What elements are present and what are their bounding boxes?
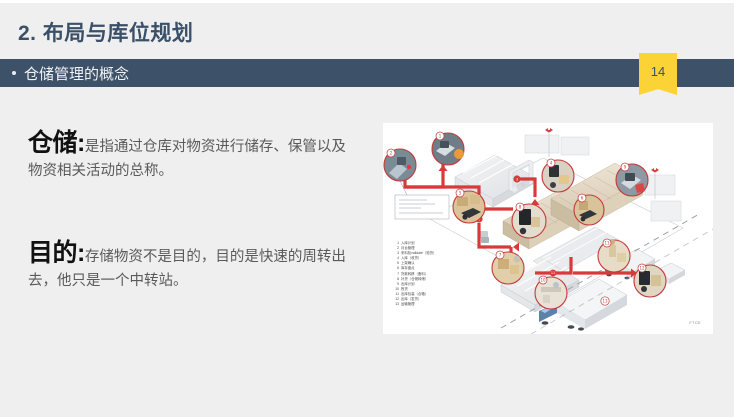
page-number-label: 14 <box>651 64 665 79</box>
svg-text:11: 11 <box>604 240 610 245</box>
svg-text:2: 2 <box>390 150 393 155</box>
legend-item-label: 运输管理 <box>401 302 415 306</box>
diagram-credit-label: FTCE <box>689 320 701 325</box>
svg-text:3: 3 <box>516 177 518 181</box>
legend-item: 13运输管理 <box>392 302 436 307</box>
legend-item-label: 上架确认 <box>401 261 415 265</box>
subtitle-bar: 仓储管理的概念 <box>0 59 734 87</box>
legend-item-label: 来料检validate（验货） <box>401 251 436 255</box>
legend-item-label: 入库（收货） <box>401 256 421 260</box>
svg-text:1: 1 <box>439 133 442 138</box>
legend-item-label: 出库包装（合箱） <box>401 292 428 296</box>
paragraph-lead: 目的: <box>28 239 85 267</box>
legend-item-label: 补货（仓储转储） <box>401 277 428 281</box>
legend-item-label: 出库计划 <box>401 282 415 286</box>
legend-item-label: 入库计划 <box>401 241 415 245</box>
svg-text:9: 9 <box>624 164 627 169</box>
svg-text:7: 7 <box>499 252 502 257</box>
legend-item-label: 出库（发货） <box>401 297 421 301</box>
page-title: 2. 布局与库位规划 <box>18 17 193 47</box>
svg-text:6: 6 <box>581 195 584 200</box>
bullet-icon <box>12 71 16 75</box>
legend-item-label: 货款转移（备料） <box>401 272 428 276</box>
svg-text:8: 8 <box>519 204 522 209</box>
legend-item-label: 月台管理 <box>401 246 415 250</box>
svg-text:4: 4 <box>550 160 553 165</box>
subtitle-label: 仓储管理的概念 <box>24 63 129 84</box>
svg-text:10: 10 <box>540 277 546 282</box>
svg-text:12: 12 <box>639 265 645 270</box>
svg-text:5: 5 <box>459 190 462 195</box>
text-column: 仓储:是指通过仓库对物资进行储存、保管以及物资相关活动的总称。 目的:存储物资不… <box>0 123 370 343</box>
page-number-badge: 14 <box>639 53 677 95</box>
svg-text:11: 11 <box>551 271 555 275</box>
diagram-legend-list: 1入库计划2月台管理3来料检validate（验货）4入库（收货）5上架确认6库… <box>392 241 436 307</box>
paragraph-purpose: 目的:存储物资不是目的，目的是快速的周转出去，他只是一个中转站。 <box>28 241 358 293</box>
slide-canvas: 2. 布局与库位规划 仓储管理的概念 14 仓储:是指通过仓库对物资进行储存、保… <box>0 0 734 417</box>
legend-item-number: 13 <box>392 302 399 307</box>
paragraph-lead: 仓储: <box>28 129 85 157</box>
paragraph-definition: 仓储:是指通过仓库对物资进行储存、保管以及物资相关活动的总称。 <box>28 131 358 183</box>
legend-item-label: 拣货 <box>401 287 408 291</box>
legend-item-label: 库存盘点 <box>401 266 415 270</box>
svg-text:13: 13 <box>602 299 608 304</box>
warehouse-flow-diagram: 3 8 11 <box>383 123 713 334</box>
